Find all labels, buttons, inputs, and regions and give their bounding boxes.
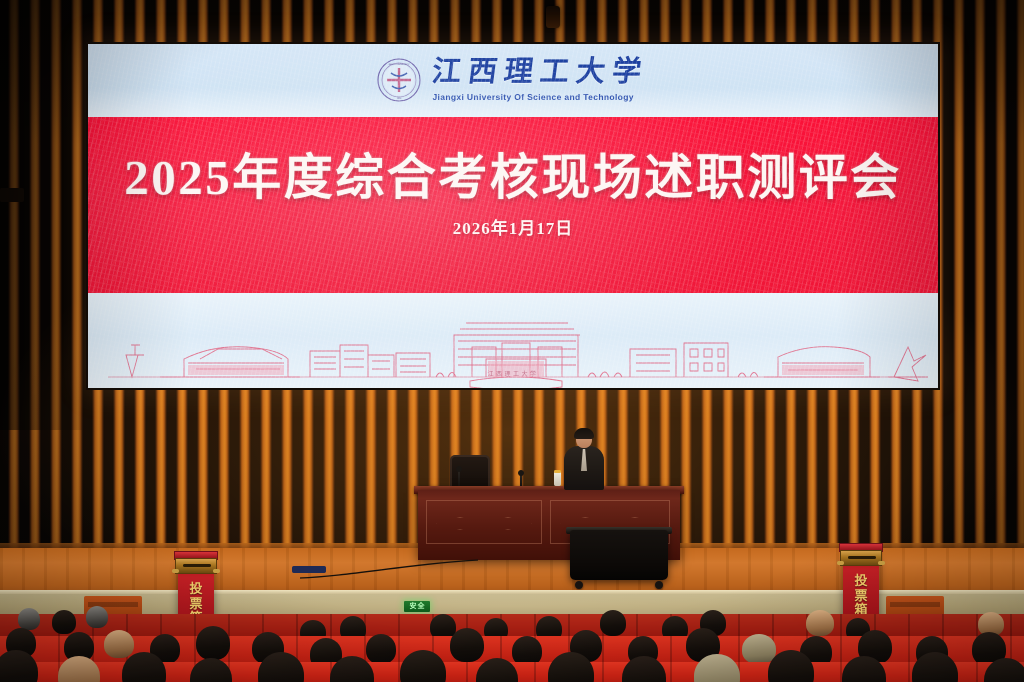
floor-cable xyxy=(300,556,480,582)
university-crest-icon: JIANGXI UNIVERSITY 1958 xyxy=(377,58,421,102)
audience-head xyxy=(104,630,134,658)
floor-equipment-case xyxy=(292,566,326,573)
ballot-box-right-lid xyxy=(840,550,882,566)
seated-speaker xyxy=(564,430,604,490)
audience-head xyxy=(450,628,484,662)
svg-text:JIANGXI UNIVERSITY: JIANGXI UNIVERSITY xyxy=(389,63,411,66)
ballot-char: 投 xyxy=(854,574,867,588)
gate-label: 江西理工大学 xyxy=(88,369,938,378)
audience-head xyxy=(18,608,40,630)
audience-head xyxy=(86,606,108,628)
audience-head xyxy=(366,634,396,664)
campus-skyline-illustration: 江西理工大学 xyxy=(88,293,938,388)
wall-access-panel xyxy=(0,188,24,202)
led-display-screen: JIANGXI UNIVERSITY 1958 江西理工大学 Jiangxi U… xyxy=(88,44,938,388)
executive-chair xyxy=(450,455,490,489)
ballot-char: 票 xyxy=(854,589,867,603)
auditorium-scene: JIANGXI UNIVERSITY 1958 江西理工大学 Jiangxi U… xyxy=(0,0,1024,682)
svg-text:1958: 1958 xyxy=(397,98,402,100)
event-title: 2025年度综合考核现场述职测评会 xyxy=(88,138,938,209)
upright-piano xyxy=(570,530,668,580)
piano-caster-right xyxy=(655,581,663,589)
desk-front-panel-left xyxy=(426,500,542,544)
university-branding: JIANGXI UNIVERSITY 1958 江西理工大学 Jiangxi U… xyxy=(88,54,938,106)
audience-head xyxy=(52,610,76,634)
ballot-slot-right xyxy=(848,556,876,559)
ballot-char: 投 xyxy=(189,582,202,596)
wall-shadow-left xyxy=(0,0,82,430)
ceiling-light-fixture xyxy=(546,6,560,28)
ballot-handle-left-b xyxy=(213,569,220,573)
event-date: 2026年1月17日 xyxy=(88,214,938,239)
piano-caster-left xyxy=(575,581,583,589)
ballot-slot-left xyxy=(183,564,211,567)
ballot-handle-right-b xyxy=(878,561,885,565)
audience-area xyxy=(0,606,1024,682)
university-name-cn: 江西理工大学 xyxy=(431,58,651,87)
ballot-box-left-lid xyxy=(175,558,217,574)
ballot-handle-left-a xyxy=(172,569,179,573)
audience-head xyxy=(600,610,626,636)
audience-head xyxy=(806,610,834,636)
audience-head xyxy=(196,626,230,660)
university-name-en: Jiangxi University Of Science and Techno… xyxy=(432,92,633,102)
ballot-handle-right-a xyxy=(837,561,844,565)
tea-cup xyxy=(554,472,561,486)
speaker-hair xyxy=(574,428,594,439)
